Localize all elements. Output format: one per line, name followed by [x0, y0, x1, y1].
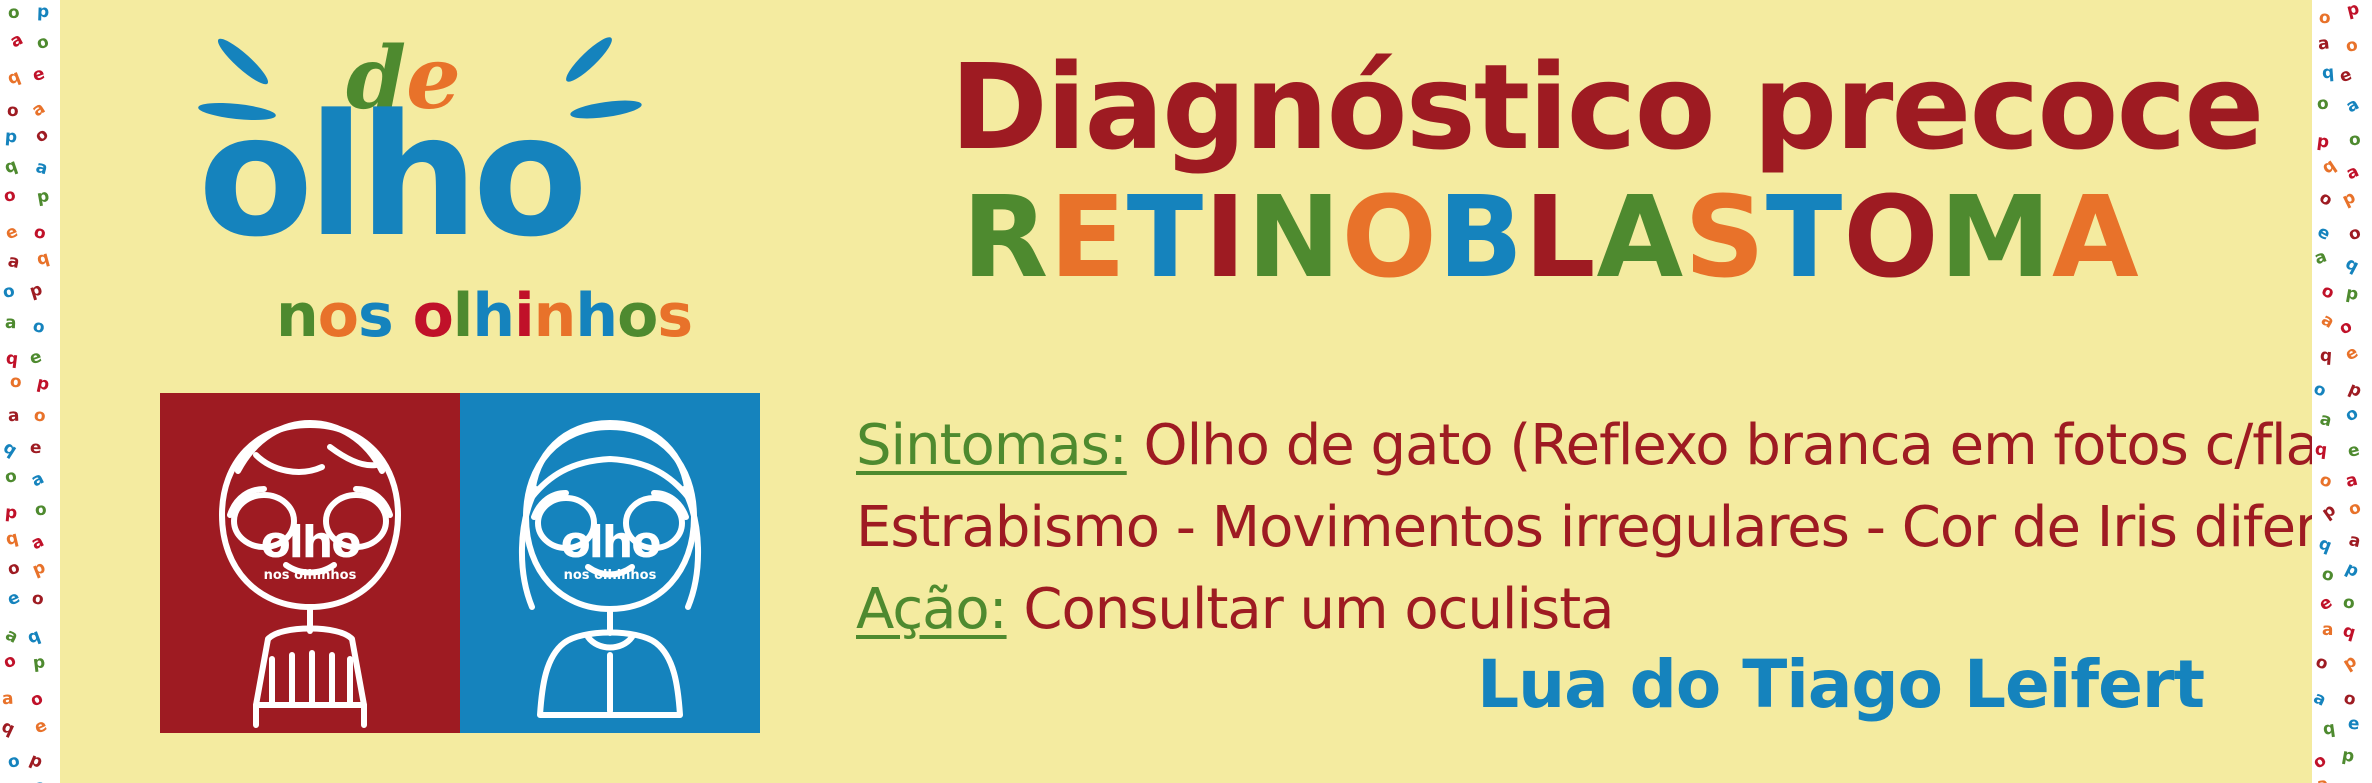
disease-letter-8: A: [1597, 182, 1685, 294]
rail-glyph-icon: o: [0, 651, 18, 674]
illustration-card-girl: olho nos olhinhos: [460, 393, 760, 733]
rail-glyph-icon: p: [35, 373, 50, 395]
logo-word-olho: olho: [198, 92, 582, 260]
rail-glyph-icon: a: [2318, 310, 2337, 333]
rail-glyph-icon: o: [2317, 470, 2334, 492]
disease-name-retinoblastoma: RETINOBLASTOMA: [962, 182, 2140, 294]
rail-glyph-icon: o: [2346, 223, 2363, 245]
tagline-letter-11: s: [657, 286, 692, 346]
rail-glyph-icon: e: [3, 222, 20, 244]
rail-glyph-icon: o: [2318, 281, 2336, 304]
rail-glyph-icon: p: [37, 2, 49, 22]
action-value: Consultar um oculista: [1007, 577, 1614, 642]
action-line: Ação: Consultar um oculista: [856, 582, 1614, 638]
rail-glyph-icon: q: [2340, 621, 2356, 643]
disease-letter-3: I: [1204, 182, 1247, 294]
rail-glyph-icon: o: [2342, 404, 2361, 427]
tagline-letter-2: s: [358, 286, 393, 346]
rail-glyph-icon: p: [32, 652, 46, 673]
rail-glyph-icon: o: [7, 101, 18, 121]
rail-glyph-icon: q: [0, 438, 20, 461]
rail-glyph-icon: a: [2322, 620, 2333, 640]
rail-glyph-icon: o: [32, 222, 46, 244]
rail-glyph-icon: e: [31, 716, 49, 739]
tagline-letter-6: h: [472, 286, 514, 346]
rail-glyph-icon: q: [2, 156, 19, 179]
rail-glyph-icon: p: [2318, 501, 2339, 524]
rail-glyph-icon: q: [35, 248, 51, 270]
rail-glyph-icon: q: [2319, 346, 2332, 367]
tagline-letter-3: [393, 286, 413, 346]
rail-glyph-icon: p: [35, 186, 49, 208]
rail-glyph-icon: a: [2343, 95, 2362, 118]
rail-glyph-icon: o: [2312, 751, 2329, 774]
brand-logo-block: de olho nos olhinhos: [100, 0, 800, 783]
rail-glyph-icon: o: [35, 32, 50, 54]
tagline-letter-0: n: [276, 286, 318, 346]
rail-glyph-icon: a: [2347, 530, 2362, 552]
rail-glyph-icon: o: [34, 500, 46, 521]
disease-letter-5: O: [1342, 182, 1438, 294]
rail-glyph-icon: p: [2340, 652, 2360, 675]
disease-letter-6: B: [1438, 182, 1524, 294]
rail-glyph-icon: o: [2313, 652, 2330, 674]
rail-glyph-icon: e: [30, 438, 41, 458]
rail-glyph-icon: o: [2342, 688, 2357, 710]
rail-glyph-icon: p: [4, 503, 17, 524]
symptoms-value: Olho de gato (Reflexo branca em fotos c/…: [1127, 413, 2372, 478]
illustration-card-boy: olho nos olhinhos: [160, 393, 460, 733]
rail-glyph-icon: a: [28, 469, 46, 492]
disease-letter-4: N: [1247, 182, 1342, 294]
rail-glyph-icon: a: [34, 157, 49, 179]
rail-glyph-icon: p: [2339, 188, 2358, 211]
rail-glyph-icon: a: [7, 30, 26, 53]
rail-glyph-icon: o: [2316, 94, 2328, 115]
rail-glyph-icon: o: [2345, 498, 2363, 521]
logo-wordmark: de olho nos olhinhos: [100, 14, 800, 374]
rail-glyph-icon: o: [31, 588, 44, 609]
rail-glyph-icon: o: [32, 316, 46, 337]
banner-stage: de olho nos olhinhos: [60, 0, 2312, 783]
headline-diagnostico: Diagnóstico precoce: [950, 48, 2262, 166]
rail-glyph-icon: a: [2316, 775, 2329, 783]
rail-glyph-icon: q: [5, 348, 19, 369]
rail-glyph-icon: o: [1, 281, 16, 303]
rail-glyph-icon: o: [31, 125, 51, 148]
rail-glyph-icon: e: [2337, 65, 2354, 87]
rail-glyph-icon: e: [27, 347, 43, 369]
symptoms-line: Sintomas: Olho de gato (Reflexo branca e…: [856, 418, 2372, 474]
rail-glyph-icon: p: [2316, 131, 2330, 152]
disease-letter-2: T: [1127, 182, 1204, 294]
disease-letter-12: M: [1940, 182, 2052, 294]
rail-glyph-icon: a: [2343, 162, 2361, 185]
rail-glyph-icon: o: [9, 372, 21, 393]
rail-glyph-icon: p: [2345, 0, 2361, 21]
tagline-letter-7: i: [514, 286, 534, 346]
disease-letter-1: E: [1049, 182, 1127, 294]
rail-glyph-icon: p: [2340, 745, 2354, 767]
rail-glyph-icon: p: [27, 750, 45, 773]
rail-glyph-icon: q: [5, 67, 23, 90]
rail-glyph-icon: o: [2348, 130, 2360, 151]
rail-glyph-icon: e: [2342, 343, 2361, 366]
rail-glyph-icon: e: [2347, 714, 2359, 735]
rail-glyph-icon: e: [2315, 593, 2335, 616]
rail-glyph-icon: q: [0, 717, 17, 740]
rail-glyph-icon: a: [2317, 34, 2330, 55]
rail-glyph-icon: o: [34, 777, 45, 783]
rail-glyph-icon: e: [30, 64, 46, 86]
disease-letter-13: A: [2052, 182, 2140, 294]
tagline-letter-1: o: [318, 286, 358, 346]
rail-glyph-icon: a: [2344, 470, 2359, 492]
rail-glyph-icon: o: [2344, 35, 2359, 57]
symptoms-line-2: Estrabismo - Movimentos irregulares - Co…: [856, 500, 2372, 556]
rail-glyph-icon: e: [2346, 440, 2360, 462]
tagline-letter-9: h: [575, 286, 617, 346]
rail-glyph-icon: q: [2314, 439, 2328, 460]
decorative-rail-left: opaoqeoapoqaopeoaqopaoqeopaoqeoapoqaopeo…: [0, 0, 60, 783]
rail-glyph-icon: o: [2312, 379, 2328, 402]
disease-letter-11: O: [1843, 182, 1939, 294]
rail-glyph-icon: o: [3, 185, 16, 206]
rail-glyph-icon: a: [6, 251, 20, 273]
banner-root: opaoqeoapoqaopeoaqopaoqeopaoqeoapoqaopeo…: [0, 0, 2372, 783]
rail-glyph-icon: q: [2322, 718, 2336, 739]
tagline-letter-10: o: [617, 286, 657, 346]
logo-tagline: nos olhinhos: [276, 286, 692, 346]
tagline-letter-4: o: [413, 286, 453, 346]
rail-glyph-icon: o: [2342, 593, 2354, 614]
disease-letter-7: L: [1524, 182, 1596, 294]
girl-face-icon: [460, 393, 760, 733]
message-column: Diagnóstico precoce RETINOBLASTOMA Sinto…: [840, 0, 2312, 783]
signature-credit: Lua do Tiago Leifert: [1477, 652, 2204, 718]
rail-glyph-icon: a: [2312, 247, 2329, 269]
rail-glyph-icon: q: [2318, 156, 2338, 179]
rail-glyph-icon: o: [2318, 8, 2330, 29]
rail-glyph-icon: e: [5, 588, 23, 611]
rail-glyph-icon: p: [2346, 379, 2364, 402]
rail-glyph-icon: q: [2342, 254, 2361, 277]
rail-glyph-icon: p: [27, 280, 44, 302]
rail-glyph-icon: p: [30, 558, 48, 581]
rail-glyph-icon: o: [2336, 317, 2355, 340]
rail-glyph-icon: o: [5, 558, 21, 580]
rail-glyph-icon: o: [3, 466, 17, 488]
disease-letter-10: T: [1766, 182, 1843, 294]
decorative-rail-right: opaoqeoapoqaopeoaqopaoqeopaoqeoapoqaopeo…: [2312, 0, 2372, 783]
rail-glyph-icon: e: [2314, 222, 2333, 245]
boy-face-icon: [160, 393, 460, 733]
rail-glyph-icon: a: [2318, 409, 2333, 431]
disease-letter-9: S: [1684, 182, 1766, 294]
rail-glyph-icon: q: [2321, 63, 2334, 84]
logo-illustration-pair: olho nos olhinhos: [160, 393, 760, 733]
rail-glyph-icon: o: [33, 405, 46, 426]
rail-glyph-icon: a: [28, 99, 48, 121]
rail-glyph-icon: o: [2320, 564, 2335, 586]
rail-glyph-icon: o: [2315, 188, 2335, 211]
rail-glyph-icon: a: [2312, 688, 2328, 711]
rail-glyph-icon: a: [1, 689, 13, 710]
rail-glyph-icon: q: [25, 626, 42, 649]
rail-glyph-icon: a: [4, 313, 16, 334]
disease-letter-0: R: [962, 182, 1049, 294]
action-label: Ação:: [856, 577, 1007, 642]
symptoms-label: Sintomas:: [856, 413, 1127, 478]
rail-glyph-icon: o: [2345, 778, 2359, 783]
rail-glyph-icon: p: [4, 127, 17, 148]
rail-glyph-icon: p: [2342, 559, 2361, 582]
rail-glyph-icon: o: [27, 689, 45, 712]
tagline-letter-5: l: [453, 286, 473, 346]
rail-glyph-icon: o: [6, 751, 20, 773]
rail-glyph-icon: p: [2344, 283, 2358, 305]
rail-glyph-icon: q: [2316, 534, 2334, 557]
rail-glyph-icon: a: [28, 532, 46, 555]
rail-glyph-icon: a: [8, 406, 19, 426]
rail-glyph-icon: a: [2, 625, 20, 648]
rail-glyph-icon: o: [8, 3, 19, 23]
tagline-letter-8: n: [534, 286, 576, 346]
rail-glyph-icon: q: [4, 528, 19, 550]
